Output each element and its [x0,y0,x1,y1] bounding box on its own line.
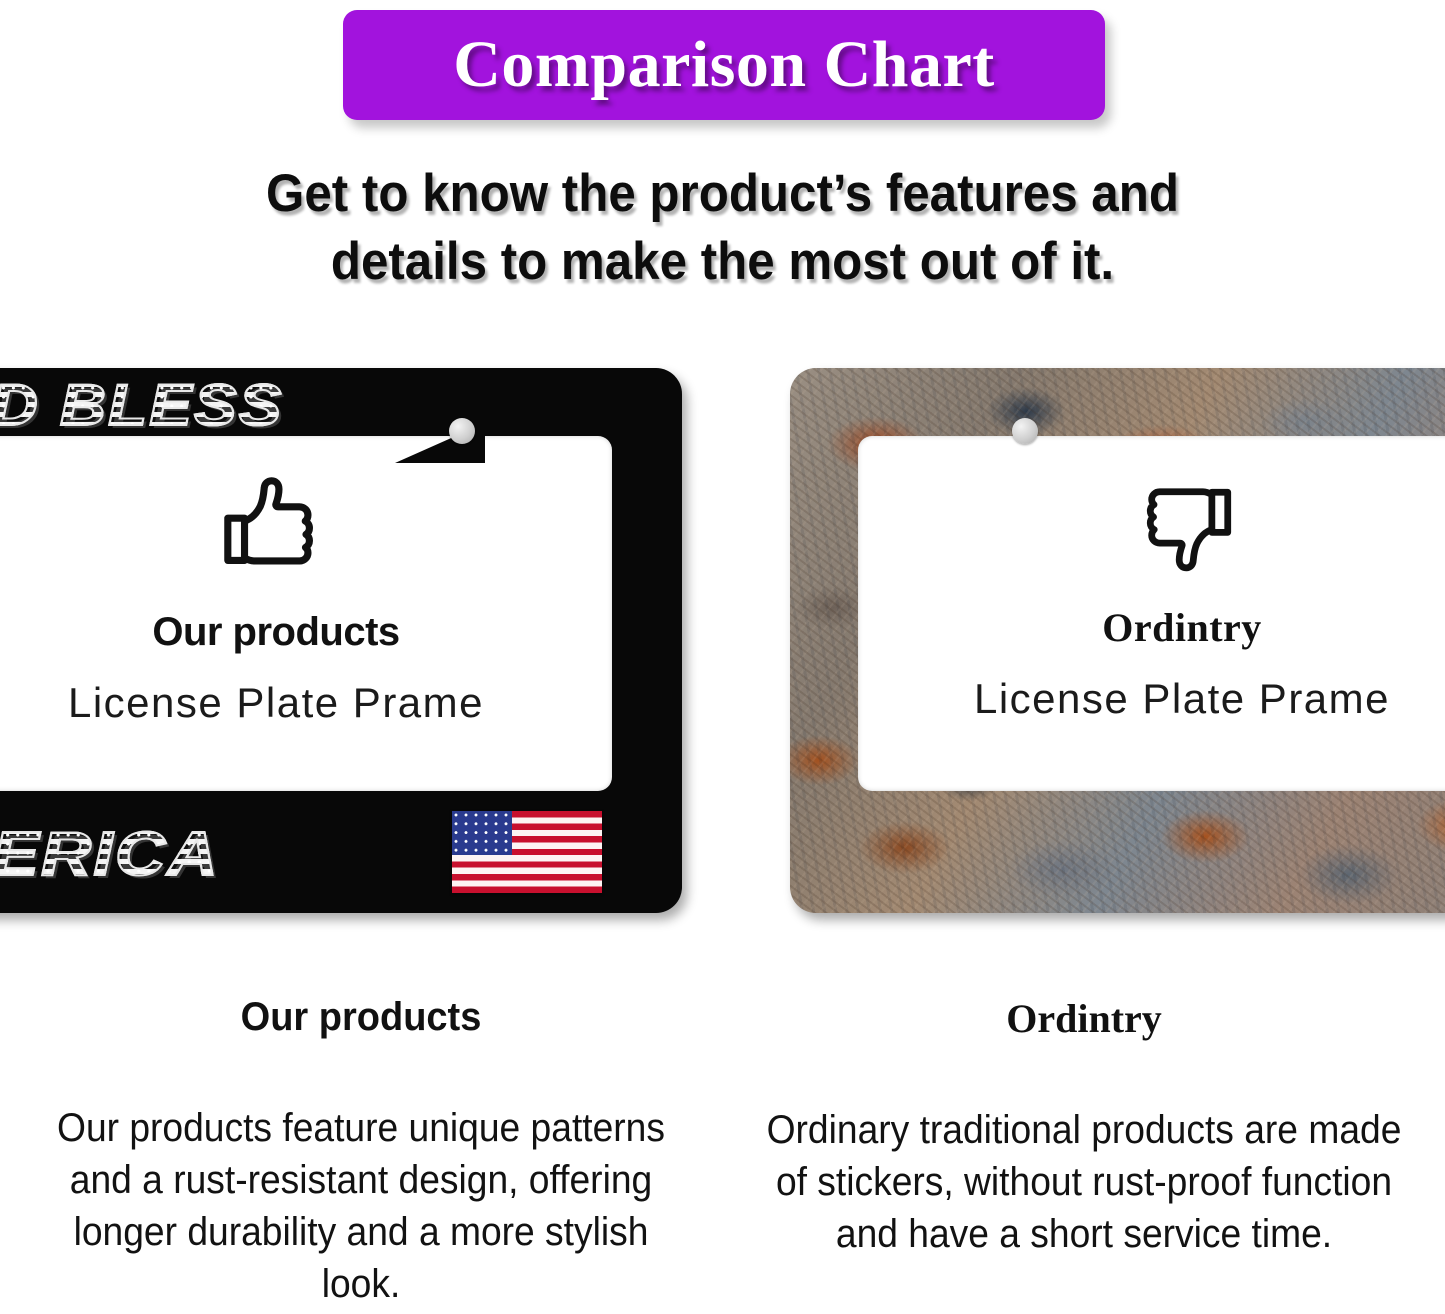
thumbs-up-icon [217,468,335,586]
frame-top-band: GOD BLESS [0,368,682,436]
subtitle-line-1: Get to know the product’s features and [51,160,1395,228]
mounting-hole-icon [449,418,475,444]
right-column-body: Ordinary traditional products are made o… [748,1104,1419,1260]
god-bless-text: GOD BLESS [0,372,284,436]
rusty-license-plate-frame: Ordintry License Plate Prame [790,368,1445,913]
right-description-column: Ordintry Ordinary traditional products a… [723,995,1445,1260]
right-inner-title: Ordintry [858,604,1445,651]
america-text: AMERICA [0,819,220,890]
us-flag-canton [452,811,512,855]
left-plate-content: Our products License Plate Prame [0,468,612,727]
mounting-hole-icon [1012,418,1038,444]
subtitle: Get to know the product’s features and d… [51,160,1395,296]
our-product-frame: GOD BLESS AMERICA Our products License P… [0,368,682,913]
page-title: Comparison Chart [453,27,995,103]
subtitle-line-2: details to make the most out of it. [51,228,1395,296]
left-column-body: Our products feature unique patterns and… [25,1102,696,1310]
right-plate-content: Ordintry License Plate Prame [858,468,1445,723]
left-column-heading: Our products [18,995,704,1040]
right-column-heading: Ordintry [723,995,1445,1042]
left-inner-subtitle: License Plate Prame [0,679,612,727]
ordinary-product-frame: Ordintry License Plate Prame [790,368,1445,913]
comparison-chart-page: Comparison Chart Get to know the product… [0,0,1445,1314]
right-inner-subtitle: License Plate Prame [858,675,1445,723]
thumbs-down-icon [1126,468,1238,580]
black-license-plate-frame: GOD BLESS AMERICA Our products License P… [0,368,682,913]
left-inner-title: Our products [0,610,612,655]
frame-bottom-band: AMERICA [0,791,682,913]
left-description-column: Our products Our products feature unique… [0,995,722,1310]
us-flag-icon [452,811,602,893]
title-banner: Comparison Chart [343,10,1105,120]
